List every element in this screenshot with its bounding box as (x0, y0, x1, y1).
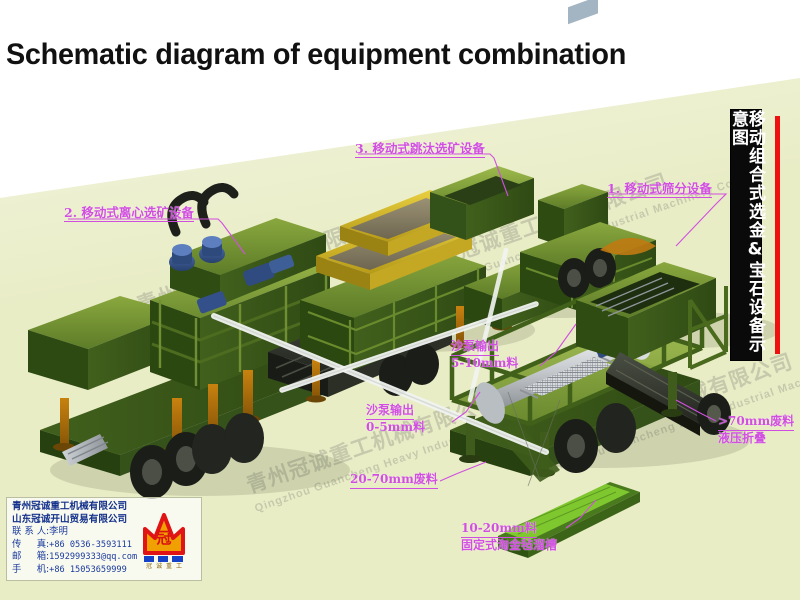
callout-waste-20-70: 20-70mm废料 (350, 472, 438, 489)
fax-label: 传 真 (12, 539, 46, 552)
company-name-row-1: 青州冠诚重工机械有限公司 (12, 501, 144, 514)
mobile-row: 手 机 : +86 15053659999 (12, 564, 144, 577)
callout-equip-1: 1. 移动式筛分设备 (607, 181, 712, 198)
contact-label: 联系人 (12, 526, 46, 539)
logo-subtext: 冠诚重工 (146, 562, 182, 569)
callout-sluice-10-20-line2: 固定式淘金毡溜槽 (461, 538, 557, 552)
callout-equip-2-text: 2. 移动式离心选矿设备 (64, 205, 194, 222)
diagram-canvas: 青州冠诚重工机械有限公司 Qingzhou Guancheng Heavy In… (0, 0, 800, 600)
callout-equip-1-text: 1. 移动式筛分设备 (607, 181, 712, 198)
company-name-2: 山东冠诚开山贸易有限公司 (12, 514, 127, 527)
company-info-lines: 青州冠诚重工机械有限公司 山东冠诚开山贸易有限公司 联系人 : 李明 传 真 :… (12, 501, 144, 577)
company-name-1: 青州冠诚重工机械有限公司 (12, 501, 127, 514)
red-accent-bar (775, 116, 780, 354)
callout-flow-0-5-line1: 沙泵输出 (366, 403, 414, 420)
mobile-label: 手 机 (12, 564, 46, 577)
fax-value: +86 0536-3593111 (49, 539, 132, 552)
contact-value: 李明 (49, 526, 68, 539)
callout-equip-2: 2. 移动式离心选矿设备 (64, 205, 194, 222)
mobile-value: +86 15053659999 (49, 564, 127, 577)
vertical-banner: 移动组合式选金&宝石设备示意图 (731, 110, 761, 360)
callout-flow-5-10: 沙泵输出 5-10mm料 (451, 339, 518, 370)
svg-text:重: 重 (166, 562, 172, 569)
email-label: 邮 箱 (12, 551, 46, 564)
company-info-box: 青州冠诚重工机械有限公司 山东冠诚开山贸易有限公司 联系人 : 李明 传 真 :… (6, 497, 202, 581)
callout-sluice-10-20-line1: 10-20mm料 (461, 521, 537, 538)
logo-mark-char: 冠 (156, 529, 171, 547)
logo-base-blocks (144, 556, 183, 562)
callout-flow-5-10-line1: 沙泵输出 (451, 339, 499, 356)
contact-row: 联系人 : 李明 (12, 526, 144, 539)
callout-waste-70-line2: 液压折叠 (718, 431, 766, 445)
callout-flow-5-10-line2: 5-10mm料 (451, 356, 518, 370)
svg-text:工: 工 (176, 563, 182, 569)
callout-waste-20-70-text: 20-70mm废料 (350, 472, 438, 489)
company-name-row-2: 山东冠诚开山贸易有限公司 (12, 514, 144, 527)
svg-text:冠: 冠 (146, 563, 152, 569)
page-title: Schematic diagram of equipment combinati… (6, 38, 626, 72)
callout-equip-3-text: 3. 移动式跳汰选矿设备 (355, 141, 485, 158)
callout-waste-70: >70mm废料 液压折叠 (718, 414, 794, 445)
company-logo: 冠 冠诚重工 (144, 501, 196, 577)
callout-equip-3: 3. 移动式跳汰选矿设备 (355, 141, 485, 158)
callout-flow-0-5-line2: 0-5mm料 (366, 420, 425, 434)
callout-waste-70-line1: >70mm废料 (718, 414, 794, 431)
callout-flow-0-5: 沙泵输出 0-5mm料 (366, 403, 425, 434)
svg-text:诚: 诚 (156, 562, 162, 569)
callout-sluice-10-20: 10-20mm料 固定式淘金毡溜槽 (461, 521, 557, 552)
email-row: 邮 箱 : 1592999333@qq.com (12, 551, 144, 564)
email-value[interactable]: 1592999333@qq.com (49, 551, 137, 564)
feed-hopper (430, 166, 534, 240)
fax-row: 传 真 : +86 0536-3593111 (12, 539, 144, 552)
vertical-banner-text: 移动组合式选金&宝石设备示意图 (729, 110, 763, 360)
